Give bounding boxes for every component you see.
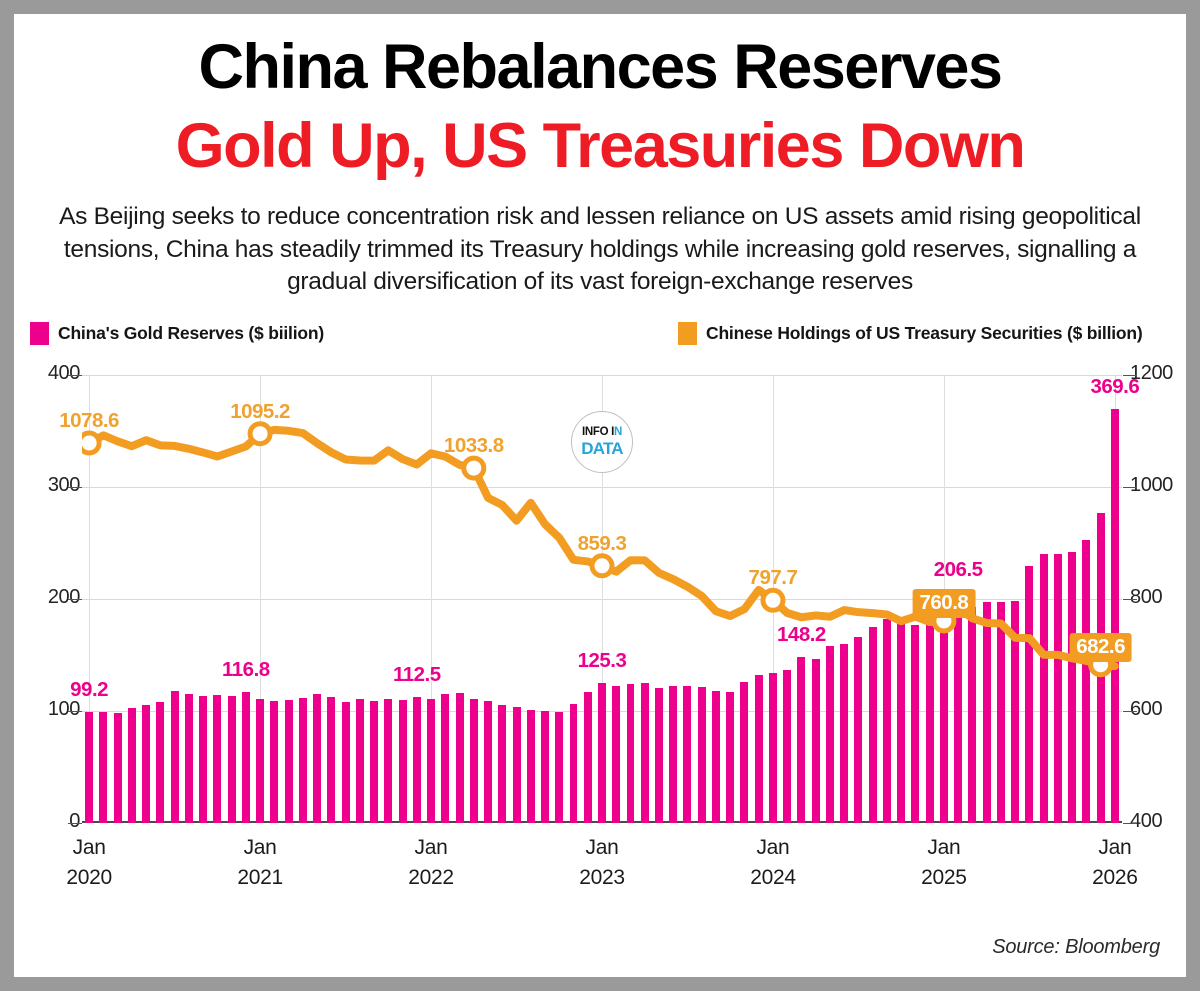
x-axis-month: Jan — [579, 833, 625, 863]
x-axis-tick-label: Jan2020 — [66, 833, 112, 893]
chart-data-label: 760.8 — [913, 589, 976, 618]
legend-label-ust: Chinese Holdings of US Treasury Securiti… — [706, 323, 1143, 344]
x-axis-month: Jan — [1092, 833, 1138, 863]
y-axis-tick-left: 0 — [20, 810, 80, 833]
y-axis-tickmark-right — [1123, 711, 1137, 712]
source-attribution: Source: Bloomberg — [992, 936, 1160, 959]
logo-line2: DATA — [581, 440, 623, 457]
chart-data-label: 99.2 — [70, 678, 108, 702]
y-axis-tickmark-right — [1123, 487, 1137, 488]
chart-data-label: 125.3 — [578, 649, 627, 673]
y-axis-tick-right: 400 — [1130, 810, 1200, 833]
x-axis-year: 2024 — [750, 863, 796, 893]
x-axis-tick-label: Jan2025 — [921, 833, 967, 893]
legend-item-gold-reserves: China's Gold Reserves ($ biilion) — [30, 322, 324, 345]
x-axis-tick-label: Jan2022 — [408, 833, 454, 893]
line-data-point[interactable] — [464, 458, 484, 478]
chart-data-label: 112.5 — [393, 663, 441, 687]
y-axis-tick-right: 1000 — [1130, 474, 1200, 497]
legend-swatch-treasury-icon — [678, 322, 697, 345]
chart-data-label: 1095.2 — [230, 400, 290, 424]
chart-data-label: 148.2 — [777, 623, 826, 647]
x-axis-year: 2022 — [408, 863, 454, 893]
chart-container: 040010060020080030010004001200Jan2020Jan… — [14, 361, 1186, 861]
chart-data-label: 116.8 — [222, 658, 270, 682]
infographic-frame: China Rebalances Reserves Gold Up, US Tr… — [14, 14, 1186, 977]
y-axis-tick-left: 300 — [20, 474, 80, 497]
x-axis-month: Jan — [921, 833, 967, 863]
x-axis-month: Jan — [750, 833, 796, 863]
legend-label-gold: China's Gold Reserves ($ biilion) — [58, 323, 324, 344]
x-axis-tick-label: Jan2024 — [750, 833, 796, 893]
info-in-data-logo: INFO INDATA — [571, 411, 633, 473]
line-data-point[interactable] — [82, 433, 99, 453]
y-axis-tickmark-right — [1123, 823, 1137, 824]
chart-data-label: 797.7 — [749, 566, 798, 590]
chart-data-label: 859.3 — [578, 532, 627, 556]
x-axis-year: 2021 — [237, 863, 283, 893]
x-axis-year: 2026 — [1092, 863, 1138, 893]
y-axis-tickmark-left — [68, 487, 82, 488]
page-subtitle: As Beijing seeks to reduce concentration… — [32, 201, 1168, 299]
y-axis-tickmark-left — [68, 823, 82, 824]
chart-data-label: 369.6 — [1090, 375, 1139, 399]
y-axis-tick-left: 200 — [20, 586, 80, 609]
x-axis-year: 2020 — [66, 863, 112, 893]
y-axis-tickmark-left — [68, 599, 82, 600]
x-axis-month: Jan — [237, 833, 283, 863]
x-axis-month: Jan — [408, 833, 454, 863]
x-axis-tick-label: Jan2023 — [579, 833, 625, 893]
y-axis-tick-right: 600 — [1130, 698, 1200, 721]
chart-data-label: 682.6 — [1069, 633, 1132, 662]
y-axis-tick-right: 1200 — [1130, 362, 1200, 385]
x-axis-tick-label: Jan2026 — [1092, 833, 1138, 893]
line-data-point[interactable] — [250, 424, 270, 444]
x-axis-year: 2023 — [579, 863, 625, 893]
legend-item-us-treasuries: Chinese Holdings of US Treasury Securiti… — [678, 322, 1143, 345]
y-axis-tickmark-right — [1123, 599, 1137, 600]
chart-data-label: 1033.8 — [444, 434, 504, 458]
chart-data-label: 1078.6 — [59, 409, 119, 433]
y-axis-tick-left: 400 — [20, 362, 80, 385]
logo-line1: INFO IN — [582, 427, 622, 439]
y-axis-tickmark-left — [68, 711, 82, 712]
line-data-point[interactable] — [592, 556, 612, 576]
chart-data-label: 206.5 — [934, 558, 983, 582]
legend-swatch-gold-icon — [30, 322, 49, 345]
y-axis-tick-right: 800 — [1130, 586, 1200, 609]
y-axis-tickmark-left — [68, 375, 82, 376]
page-title-line2: Gold Up, US Treasuries Down — [14, 113, 1186, 179]
x-axis-month: Jan — [66, 833, 112, 863]
x-axis-tick-label: Jan2021 — [237, 833, 283, 893]
line-data-point[interactable] — [763, 590, 783, 610]
chart-plot-area: 040010060020080030010004001200Jan2020Jan… — [82, 375, 1122, 823]
chart-legend: China's Gold Reserves ($ biilion) Chines… — [14, 321, 1186, 347]
x-axis-year: 2025 — [921, 863, 967, 893]
page-title-line1: China Rebalances Reserves — [14, 36, 1186, 99]
